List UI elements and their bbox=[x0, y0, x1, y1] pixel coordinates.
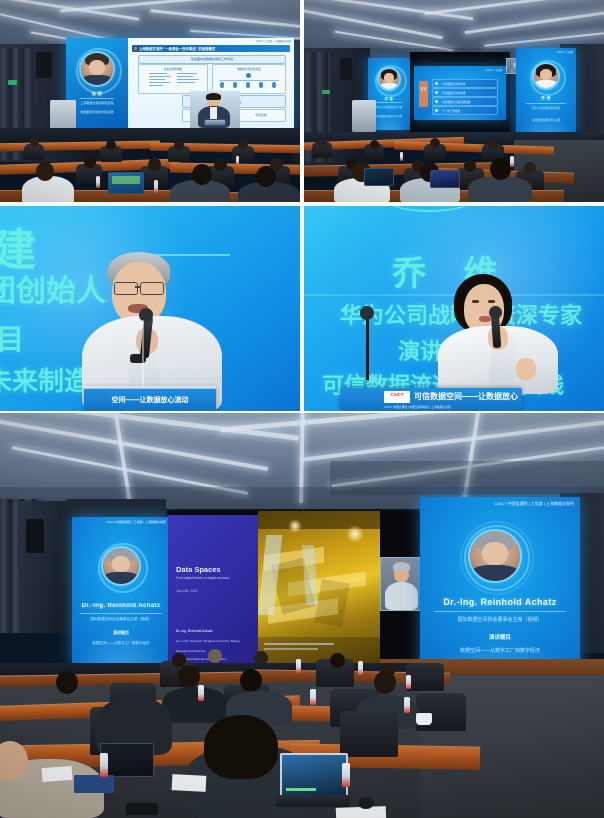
video-call-tile[interactable] bbox=[380, 557, 422, 611]
laptop bbox=[108, 172, 144, 194]
chart-right-box: 数据交易专家委员会 bbox=[212, 64, 286, 94]
slide-speaker-name: Dr.-Ing. Reinhold Achatz bbox=[426, 597, 573, 607]
laptop[interactable] bbox=[280, 753, 348, 797]
agenda-item-text: 可信数据空间的内涵 bbox=[442, 91, 465, 95]
agenda-item-text: 可信数据空间的实践进展 bbox=[442, 100, 471, 104]
avatar bbox=[81, 53, 113, 85]
keyboard bbox=[276, 795, 350, 807]
ppt-subtitle: From digital factory to digital economy bbox=[176, 576, 230, 580]
agenda-item: 可信数据空间的背景 bbox=[432, 79, 498, 88]
mic-stand bbox=[366, 314, 369, 380]
agenda-label: 目录 bbox=[419, 81, 428, 107]
slide-label: 演讲题目 bbox=[425, 633, 575, 641]
avatar bbox=[534, 64, 558, 88]
led-screen-right: CAICT | 工信部 乔 维 华为公司战略部资深专家 可信数据流通的华为实践 bbox=[516, 48, 576, 136]
slide-speaker-role: 上海数据交易所副总经理 bbox=[68, 101, 126, 105]
podium-footer-text: CAICT 中国信通院 | 中国互联网协会 | 上海数据交易所 bbox=[384, 405, 516, 409]
slide-banner: 上海数据交易所 "一级两会一所多联站" 的运营模式 bbox=[132, 45, 290, 52]
chart-title: 建设面向全数据交易的工作专班 bbox=[139, 56, 285, 63]
chart-left-box: 交易业务协调组 bbox=[138, 64, 208, 94]
mouse[interactable] bbox=[358, 797, 374, 809]
podium-banner-text: 空间——让数据放心流动 bbox=[84, 395, 216, 405]
slide-top-logos: CAICT | 工信部 bbox=[557, 50, 573, 54]
panel-mid-left: 建 团创始人 目 未来制造 bbox=[0, 206, 300, 411]
podium: 空间——让数据放心流动 bbox=[84, 388, 216, 411]
ppt-date: July 15th, 2022 bbox=[176, 589, 198, 593]
slide-speaker-topic: 数据要素流通的创新实践 bbox=[68, 110, 126, 114]
agenda-item-text: 可信数据空间的背景 bbox=[442, 82, 465, 86]
speaker-figure bbox=[432, 274, 572, 394]
panel-bottom: CAICT 中国信通院 | 工信部 | 上海数据交易所 Dr.-Ing. Rei… bbox=[0, 413, 604, 818]
audience-area bbox=[304, 126, 604, 202]
phone[interactable] bbox=[126, 803, 158, 815]
laptop bbox=[100, 743, 154, 777]
led-screen-center-frame: CAICT | 工信部 目录 可信数据空间的背景 可信数据空间的内涵 可 bbox=[410, 52, 510, 136]
paper-document bbox=[42, 766, 73, 782]
slide-speaker-role: 华为公司战略部资深专家 bbox=[518, 106, 574, 110]
ppt-author: Dr.-Ing. Reinhold Achatz bbox=[176, 629, 213, 633]
avatar bbox=[379, 69, 399, 89]
glasses-icon bbox=[140, 282, 164, 295]
speaker-video-inset bbox=[190, 91, 240, 128]
slide-top-logos: CAICT | 工信部 | 上海数据交易所 bbox=[256, 39, 291, 43]
audience-area bbox=[0, 136, 300, 202]
agenda-item: 可信数据空间的实践进展 bbox=[432, 97, 498, 106]
backdrop-line-topic: 目 bbox=[0, 318, 24, 358]
caict-logo-text: CAICT bbox=[385, 392, 409, 402]
footer-box-right: 场景应用 bbox=[236, 109, 286, 122]
slide-top-logos: CAICT | 工信部 bbox=[486, 68, 502, 72]
slide-speaker-role: 国际数据空间协会董事会主席（视频） bbox=[75, 617, 167, 622]
speaker-box bbox=[36, 52, 52, 78]
ppt-title: Data Spaces bbox=[176, 565, 221, 574]
caict-logo: CAICT bbox=[384, 391, 410, 403]
podium-shadow bbox=[84, 386, 216, 389]
agenda-item-text: 下一步工作展望 bbox=[442, 109, 460, 113]
laptop bbox=[430, 170, 460, 188]
chart-right-title: 数据交易专家委员会 bbox=[216, 67, 282, 71]
slide-top-logos: CAICT 中国信通院 | 工信部 | 上海数据交易所 bbox=[494, 501, 574, 507]
avatar bbox=[470, 531, 520, 581]
slide-banner-text: 上海数据交易所 "一级两会一所多联站" 的运营模式 bbox=[139, 46, 287, 51]
exit-sign bbox=[322, 90, 330, 94]
laptop bbox=[364, 168, 394, 186]
panel-top-right: 乔 维 华为公司战略部资深专家 可信数据流通的华为实践 CAICT | 工信部 … bbox=[304, 0, 604, 202]
agenda-item: 下一步工作展望 bbox=[432, 106, 498, 115]
led-screen-main: 张 扬 上海数据交易所副总经理 数据要素流通的创新实践 CAICT | 工信部 … bbox=[66, 38, 294, 128]
ppt-affiliation-1: Hon. Adv. Professor Tsinghua University,… bbox=[176, 639, 240, 643]
slide-speaker-topic: 可信数据流通的华为实践 bbox=[518, 118, 574, 122]
factory-photo bbox=[258, 511, 380, 666]
footer-right-text: 场景应用 bbox=[237, 110, 285, 121]
speaker-box bbox=[26, 519, 44, 553]
speaker-box bbox=[340, 58, 352, 80]
paper-document bbox=[172, 774, 207, 792]
slide-top-logos: CAICT 中国信通院 | 工信部 | 上海数据交易所 bbox=[106, 520, 166, 524]
chart-title-box: 建设面向全数据交易的工作专班 bbox=[138, 55, 286, 64]
audience-person bbox=[162, 687, 228, 723]
glasses-icon bbox=[114, 282, 138, 295]
agenda-item: 可信数据空间的内涵 bbox=[432, 88, 498, 97]
chart-left-title: 交易业务协调组 bbox=[142, 67, 204, 71]
photo-collage: 张 扬 上海数据交易所副总经理 数据要素流通的创新实践 CAICT | 工信部 … bbox=[0, 0, 604, 818]
org-chart-slide: CAICT | 工信部 | 上海数据交易所 上海数据交易所 "一级两会一所多联站… bbox=[128, 38, 294, 128]
hand bbox=[516, 358, 536, 380]
slide-speaker-name: Dr.-Ing. Reinhold Achatz bbox=[76, 603, 166, 609]
avatar bbox=[103, 548, 139, 584]
agenda-slide: CAICT | 工信部 目录 可信数据空间的背景 可信数据空间的内涵 可 bbox=[414, 66, 506, 120]
agenda-label-badge: 目录 bbox=[419, 81, 428, 107]
exit-sign bbox=[8, 80, 17, 85]
podium: CAICT 可信数据空间——让数据放心流动 CAICT 中国信通院 | 中国互联… bbox=[340, 388, 522, 411]
head bbox=[204, 715, 278, 779]
slide-label: 演讲题目 bbox=[75, 630, 167, 636]
audience-area bbox=[0, 645, 604, 818]
podium-banner-text: 可信数据空间——让数据放心流动 bbox=[414, 391, 518, 402]
panel-top-left: 张 扬 上海数据交易所副总经理 数据要素流通的创新实践 CAICT | 工信部 … bbox=[0, 0, 300, 202]
slide-speaker-name: 乔 维 bbox=[518, 96, 573, 101]
notebook bbox=[74, 775, 114, 793]
panel-mid-right: 乔 维 华为公司战略部资深专家 演讲题目 可信数据流通的华为实践 bbox=[304, 206, 604, 411]
slide-speaker-name: 张 扬 bbox=[68, 91, 125, 97]
ceiling bbox=[0, 413, 604, 509]
slide-speaker-role: 国际数据空间协会董事会主席（视频） bbox=[425, 616, 575, 623]
